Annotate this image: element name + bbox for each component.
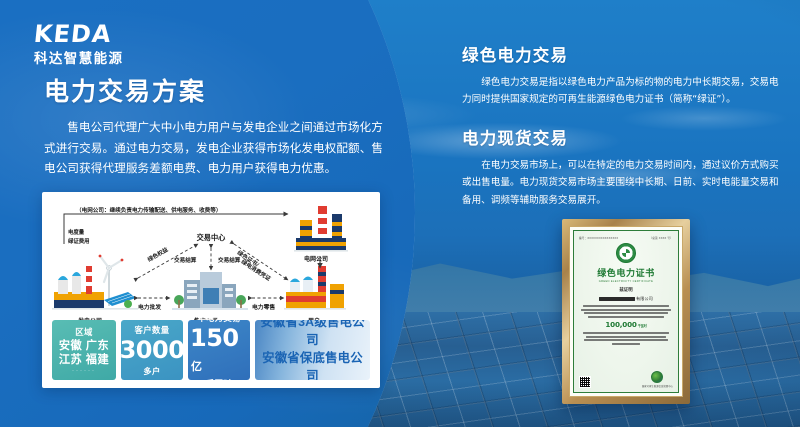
certificate-footer-line xyxy=(586,336,667,338)
certificate-amount-value: 100,000 xyxy=(605,320,636,329)
diagram-node-grid: 电网公司 xyxy=(304,254,328,263)
stats-strip: 区域 安徽 广东 江苏 福建 ······ 客户数量 3000 多户 年电力交易… xyxy=(52,320,370,380)
diagram-left-note-1: 电度量 xyxy=(68,228,84,236)
certificate-issuer-stamp: 国家可再生能源信息管理中心 xyxy=(642,371,673,388)
certificate-bottom-row: 国家可再生能源信息管理中心 xyxy=(579,371,673,388)
certificate-footer-lines xyxy=(579,332,673,345)
certificate-seal-icon xyxy=(616,243,636,263)
brand-logo: KEDA 科达智慧能源 xyxy=(34,24,164,67)
icon-grid-company xyxy=(294,206,348,252)
page-description: 售电公司代理广大中小电力用户与发电企业之间通过市场化方式进行交易。通过电力交易，… xyxy=(44,117,389,179)
certificate-issuer: 国家可再生能源信息管理中心 xyxy=(642,384,673,388)
slide-root: KEDA 科达智慧能源 电力交易方案 售电公司代理广大中小电力用户与发电企业之间… xyxy=(0,0,800,427)
issuer-badge-icon xyxy=(651,371,663,383)
svg-text:交易中心: 交易中心 xyxy=(197,233,227,242)
diagram-label-settlement-left: 交易结算 xyxy=(174,256,196,264)
stat-trading-caption: 年电力交易 xyxy=(197,312,241,324)
stat-qualification-line-2: 安徽省保底售电公司 xyxy=(257,350,368,380)
certificate-mat: 编号：XXXXXXXXXXXXXXXX （总第 XXXX 号） 绿色电力证书 G… xyxy=(569,226,683,397)
stat-region: 区域 安徽 广东 江苏 福建 ······ xyxy=(52,320,116,380)
stat-trading-value-unit: 亿 xyxy=(191,360,202,373)
certificate-body-line xyxy=(584,312,669,314)
certificate-company: 有限公司 xyxy=(599,296,653,302)
right-text-column: 绿色电力交易 绿色电力交易是指以绿色电力产品为标的物的电力中长期交易，交易电力同… xyxy=(462,42,784,225)
certificate-page: 编号：XXXXXXXXXXXXXXXX （总第 XXXX 号） 绿色电力证书 G… xyxy=(573,230,679,393)
diagram-alt xyxy=(42,332,43,333)
certificate-body-line xyxy=(581,309,670,311)
certificate-frame: 编号：XXXXXXXXXXXXXXXX （总第 XXXX 号） 绿色电力证书 G… xyxy=(562,219,690,404)
certificate-amount: 100,000千瓦时 xyxy=(605,320,646,329)
logo-mark: KEDA xyxy=(34,24,164,44)
page-title: 电力交易方案 xyxy=(44,72,389,108)
stat-qualifications: KEDA 安徽省3A级售电公司 安徽省保底售电公司 xyxy=(255,320,370,380)
section-body-spot: 在电力交易市场上，可以在特定的电力交易时间内，通过议价方式购买或出售电量。电力现… xyxy=(462,157,784,209)
section-spot-trading: 电力现货交易 在电力交易市场上，可以在特定的电力交易时间内，通过议价方式购买或出… xyxy=(462,125,784,209)
left-headline-block: 电力交易方案 售电公司代理广大中小电力用户与发电企业之间通过市场化方式进行交易。… xyxy=(44,72,389,179)
certificate-body-lines xyxy=(579,305,673,318)
section-heading-green: 绿色电力交易 xyxy=(462,42,784,66)
certificate-footer-line xyxy=(584,339,669,341)
stat-annual-trading: 年电力交易 150亿 千瓦时 xyxy=(188,320,250,380)
certificate-footer-line xyxy=(583,332,669,334)
icon-generation-company xyxy=(52,255,138,310)
icon-retail-company xyxy=(172,272,248,310)
stat-region-line-1: 安徽 广东 xyxy=(59,340,109,354)
certificate-certify-label: 兹证明 xyxy=(619,287,632,293)
logo-wordmark: KEDA xyxy=(33,24,113,44)
stat-qualification-line-1: 安徽省3A级售电公司 xyxy=(257,320,368,350)
diagram-label-settlement-right: 交易结算 xyxy=(218,256,240,264)
logo-company-name: 科达智慧能源 xyxy=(34,47,164,67)
certificate-amount-unit: 千瓦时 xyxy=(638,324,647,328)
certificate-serial: 编号：XXXXXXXXXXXXXXXX xyxy=(579,236,618,240)
certificate-body-line xyxy=(588,316,663,318)
stat-customer-count: 客户数量 3000 多户 xyxy=(121,320,183,380)
stat-region-line-2: 江苏 福建 xyxy=(59,354,109,368)
diagram-label-wholesale: 电力批发 xyxy=(138,302,161,311)
stat-customer-value: 3000 xyxy=(120,338,185,362)
certificate-footer-line xyxy=(612,343,640,345)
stat-trading-value: 150 xyxy=(190,324,239,352)
stat-region-caption: 区域 xyxy=(75,326,93,338)
diagram-label-retail: 电力零售 xyxy=(252,302,275,311)
certificate-body-line xyxy=(583,305,669,307)
certificate-company-redaction xyxy=(599,297,635,301)
diagram-top-note: （电网公司：继续负责电力传输配送、供电服务、收费等） xyxy=(76,206,221,214)
stat-customer-unit: 多户 xyxy=(143,365,160,377)
icon-user-factory xyxy=(284,266,346,310)
content-card: 交易中心 （电网公司：继续负责电力传输配送、供电服务、收费等） 电度量 xyxy=(42,192,380,388)
section-heading-spot: 电力现货交易 xyxy=(462,125,784,149)
stat-qualifications-text: 安徽省3A级售电公司 安徽省保底售电公司 xyxy=(257,320,368,380)
stat-trading-value-wrap: 150亿 xyxy=(190,326,248,374)
certificate-total-no: （总第 XXXX 号） xyxy=(649,236,673,240)
section-green-power-trading: 绿色电力交易 绿色电力交易是指以绿色电力产品为标的物的电力中长期交易，交易电力同… xyxy=(462,42,784,109)
certificate-title: 绿色电力证书 xyxy=(597,266,655,279)
stat-region-dots: ······ xyxy=(72,368,96,374)
stat-trading-unit: 千瓦时 xyxy=(206,377,232,389)
certificate-subtitle: GREEN ELECTRICITY CERTIFICATE xyxy=(599,280,653,283)
section-body-green: 绿色电力交易是指以绿色电力产品为标的物的电力中长期交易，交易电力同时提供国家规定… xyxy=(462,74,784,109)
certificate-company-suffix: 有限公司 xyxy=(636,296,653,302)
diagram-left-note-2: 绿证费用 xyxy=(68,237,90,245)
certificate-topline: 编号：XXXXXXXXXXXXXXXX （总第 XXXX 号） xyxy=(579,236,673,240)
qr-code-icon xyxy=(579,376,591,388)
stat-customer-caption: 客户数量 xyxy=(134,324,169,336)
